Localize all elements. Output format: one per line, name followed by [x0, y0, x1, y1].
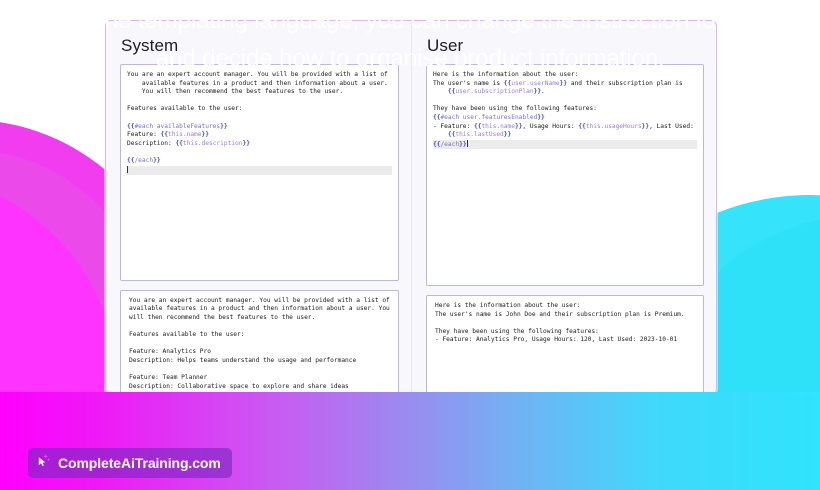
watermark-badge: CompleteAiTraining.com	[28, 448, 232, 478]
code-token-plain: They have been using the following featu…	[433, 105, 597, 112]
editor-line[interactable]	[127, 166, 392, 176]
code-token-plain: .	[541, 88, 545, 95]
sparkle-cursor-icon	[36, 453, 51, 473]
code-token-expr: this.lastUsed	[455, 131, 503, 138]
editor-line[interactable]: {{user.subscriptionPlan}}.	[433, 88, 697, 97]
code-token-brace: }}	[153, 157, 160, 164]
editor-line[interactable]: available features in a product and then…	[127, 80, 392, 89]
code-token-brace: {{	[578, 123, 585, 130]
code-token-plain: - Feature:	[433, 123, 474, 130]
code-token-brace: }}	[220, 123, 227, 130]
code-token-plain: and their subscription plan is	[567, 80, 682, 87]
editor-line[interactable]	[433, 97, 697, 106]
code-token-plain: The user's name is	[433, 80, 504, 87]
user-rendered-preview: Here is the information about the user: …	[426, 295, 704, 394]
code-token-plain: Feature:	[127, 131, 161, 138]
code-token-plain: Description:	[127, 140, 175, 147]
code-token-kw: /each	[440, 141, 459, 148]
user-editor-code[interactable]: Here is the information about the user:T…	[433, 71, 697, 149]
code-token-plain: , Usage Hours:	[522, 123, 578, 130]
code-token-brace: }}	[534, 88, 541, 95]
user-preview-text: Here is the information about the user: …	[435, 302, 697, 345]
editor-line[interactable]: - Feature: {{this.name}}, Usage Hours: {…	[433, 123, 697, 132]
editor-line[interactable]: {{#each availableFeatures}}	[127, 123, 392, 132]
code-token-brace: }}	[202, 131, 209, 138]
editor-line[interactable]	[127, 148, 392, 157]
code-token-plain: You will then recommend the best feature…	[127, 88, 343, 95]
editor-line[interactable]	[127, 114, 392, 123]
code-token-brace: {{	[161, 131, 168, 138]
code-token-expr: user.subscriptionPlan	[455, 88, 533, 95]
text-caret	[467, 140, 468, 147]
watermark-label: CompleteAiTraining.com	[58, 455, 221, 471]
code-token-brace: {{	[175, 140, 182, 147]
system-preview-text: You are an expert account manager. You w…	[129, 297, 392, 392]
caption-text: With the templating language, you can ch…	[0, 2, 820, 78]
caption-line-1: With the templating language, you can ch…	[12, 2, 808, 40]
editor-line[interactable]: The user's name is {{user.userName}} and…	[433, 80, 697, 89]
editor-line[interactable]: {{this.lastUsed}}	[433, 131, 697, 140]
code-token-plain: Features available to the user:	[127, 105, 242, 112]
editor-line[interactable]	[127, 97, 392, 106]
code-token-brace: }}	[243, 140, 250, 147]
user-template-editor[interactable]: Here is the information about the user:T…	[426, 64, 704, 286]
code-token-brace: }}	[537, 114, 544, 121]
code-token-brace: }}	[642, 123, 649, 130]
code-token-plain	[433, 88, 448, 95]
code-token-expr: this.name	[168, 131, 202, 138]
editor-line[interactable]: {{#each user.featuresEnabled}}	[433, 114, 697, 123]
code-token-kw: /each	[134, 157, 153, 164]
system-rendered-preview: You are an expert account manager. You w…	[120, 290, 399, 394]
code-token-expr: user.userName	[511, 80, 559, 87]
code-token-plain	[433, 131, 448, 138]
code-token-brace: }}	[459, 141, 466, 148]
system-editor-code[interactable]: You are an expert account manager. You w…	[127, 71, 392, 175]
code-token-expr: this.name	[481, 123, 515, 130]
text-caret	[127, 166, 128, 173]
code-token-brace: }}	[560, 80, 567, 87]
code-token-kw: #each user.featuresEnabled	[440, 114, 537, 121]
editor-line[interactable]: {{/each}}	[127, 157, 392, 166]
system-template-editor[interactable]: You are an expert account manager. You w…	[120, 64, 399, 281]
editor-line[interactable]: Description: {{this.description}}	[127, 140, 392, 149]
code-token-plain: , Last Used:	[649, 123, 694, 130]
caption-line-2: and decide how to organise product infor…	[12, 40, 808, 78]
editor-line[interactable]: Features available to the user:	[127, 105, 392, 114]
editor-line[interactable]: They have been using the following featu…	[433, 105, 697, 114]
editor-line[interactable]: You will then recommend the best feature…	[127, 88, 392, 97]
code-token-plain: available features in a product and then…	[127, 80, 388, 87]
editor-line[interactable]: Feature: {{this.name}}	[127, 131, 392, 140]
editor-line[interactable]: {{/each}}	[433, 140, 697, 150]
code-token-expr: this.usageHours	[586, 123, 642, 130]
code-token-expr: this.description	[183, 140, 243, 147]
code-token-brace: }}	[504, 131, 511, 138]
code-token-kw: #each availableFeatures	[134, 123, 220, 130]
